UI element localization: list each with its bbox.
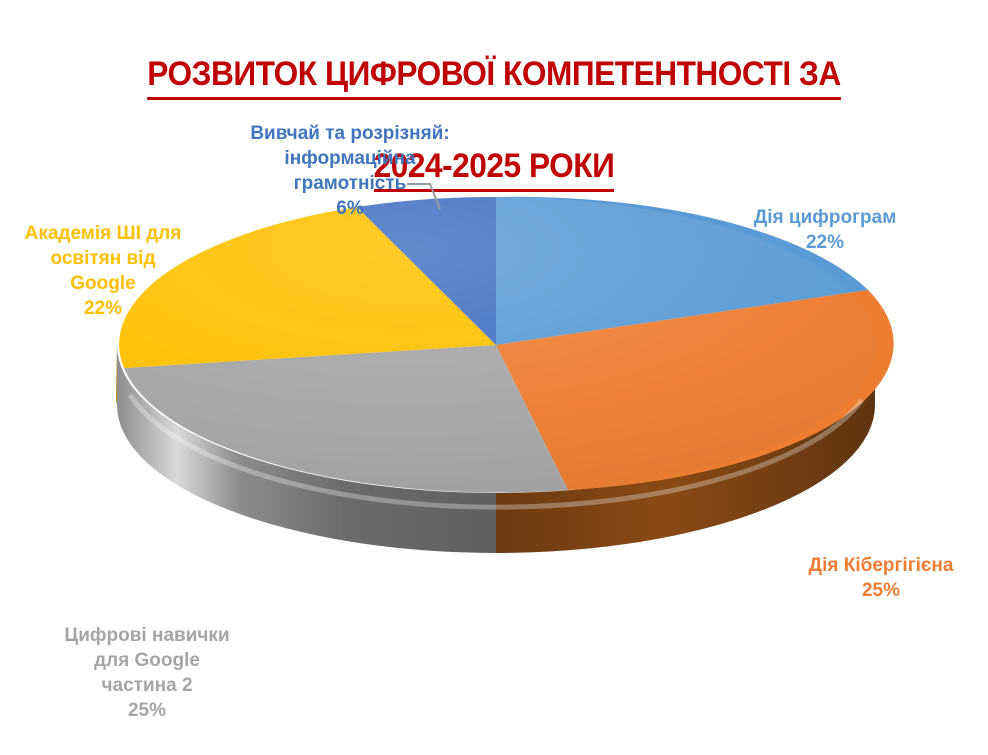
data-label-diya-tsyfrohram-percent: 22% bbox=[690, 230, 960, 255]
data-label-tsyfrovi-navychky-text: Цифрові навички для Google частина 2 bbox=[64, 625, 229, 696]
pie-side-wall-gray bbox=[117, 345, 496, 553]
pie-slice-tsyfrovi-navychky[interactable] bbox=[124, 345, 568, 493]
pie-slice-kiberhihiyena[interactable] bbox=[496, 290, 894, 490]
slide-canvas: РОЗВИТОК ЦИФРОВОЇ КОМПЕТЕНТНОСТІ ЗА 2024… bbox=[0, 0, 988, 755]
data-label-akademiya-shi-text: Академія ШІ для освітян від Google bbox=[25, 223, 182, 294]
data-label-informatsiyna-text: Вивчай та розрізняй: інформаційна грамот… bbox=[250, 123, 449, 194]
data-label-diya-tsyfrohram[interactable]: Дія цифрограм 22% bbox=[690, 180, 960, 280]
pie-side-wall-orange bbox=[496, 345, 875, 553]
data-label-kiberhihiyena-text: Дія Кібергігієна bbox=[809, 555, 954, 576]
pie-side-wall-yellow bbox=[116, 345, 117, 405]
data-label-tsyfrovi-navychky[interactable]: Цифрові навички для Google частина 2 25% bbox=[23, 598, 271, 748]
data-label-kiberhihiyena[interactable]: Дія Кібергігієна 25% bbox=[782, 528, 980, 628]
data-label-informatsiyna[interactable]: Вивчай та розрізняй: інформаційна грамот… bbox=[219, 96, 481, 246]
chart-title-line-1: РОЗВИТОК ЦИФРОВОЇ КОМПЕТЕНТНОСТІ ЗА bbox=[147, 52, 840, 100]
data-label-informatsiyna-percent: 6% bbox=[219, 196, 481, 221]
data-label-akademiya-shi[interactable]: Академія ШІ для освітян від Google 22% bbox=[0, 196, 206, 346]
data-label-diya-tsyfrohram-text: Дія цифрограм bbox=[754, 207, 897, 228]
pie-rim-highlight bbox=[130, 395, 862, 507]
data-label-tsyfrovi-navychky-percent: 25% bbox=[23, 698, 271, 723]
data-label-kiberhihiyena-percent: 25% bbox=[782, 578, 980, 603]
chart-title: РОЗВИТОК ЦИФРОВОЇ КОМПЕТЕНТНОСТІ ЗА 2024… bbox=[100, 8, 889, 192]
data-label-akademiya-shi-percent: 22% bbox=[0, 296, 206, 321]
